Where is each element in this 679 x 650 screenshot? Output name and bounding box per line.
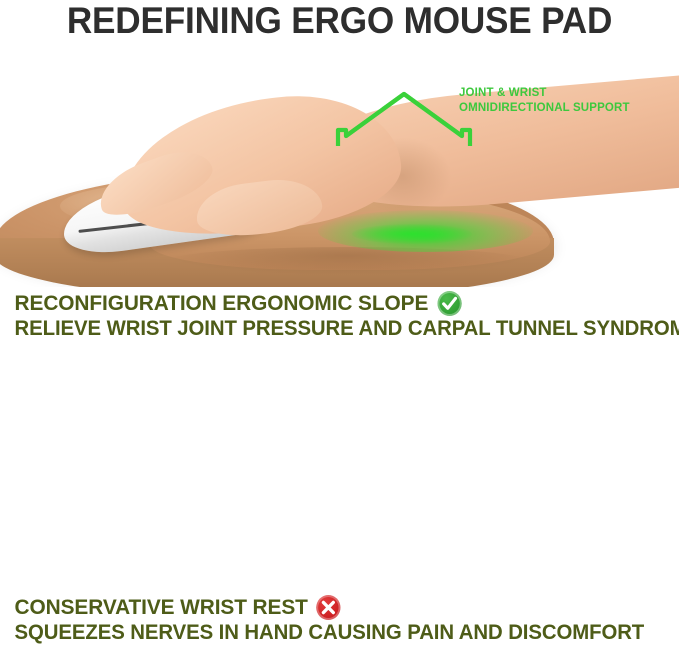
top-product-photo: JOINT & WRIST OMNIDIRECTIONAL SUPPORT <box>0 42 679 287</box>
top-annotation: JOINT & WRIST OMNIDIRECTIONAL SUPPORT <box>459 86 630 115</box>
page-title: REDEFINING ERGO MOUSE PAD <box>17 2 662 41</box>
lower-caption-block: CONSERVATIVE WRIST REST SQUEEZES NERVES … <box>0 594 679 646</box>
product-infographic: REDEFINING ERGO MOUSE PAD JOINT & WRIST … <box>0 0 679 650</box>
lower-caption-line-1-row: CONSERVATIVE WRIST REST <box>0 594 659 620</box>
top-annotation-line-2: OMNIDIRECTIONAL SUPPORT <box>459 101 630 116</box>
upper-caption-line-2: RELIEVE WRIST JOINT PRESSURE AND CARPAL … <box>15 316 679 342</box>
check-circle-icon <box>437 291 461 316</box>
x-circle-icon <box>317 595 341 620</box>
upper-caption-line-1-row: RECONFIGURATION ERGONOMIC SLOPE <box>0 290 659 316</box>
bottom-product-photo: JOINT & WRIST HANG IN THE AIR <box>0 358 679 593</box>
upper-caption-line-2-row: RELIEVE WRIST JOINT PRESSURE AND CARPAL … <box>0 316 659 342</box>
upper-caption-block: RECONFIGURATION ERGONOMIC SLOPE RELIEVE … <box>0 290 679 342</box>
top-annotation-line-1: JOINT & WRIST <box>459 86 630 101</box>
green-support-core-glow <box>352 224 472 244</box>
upper-caption-line-1: RECONFIGURATION ERGONOMIC SLOPE <box>15 290 429 316</box>
lower-caption-line-2-row: SQUEEZES NERVES IN HAND CAUSING PAIN AND… <box>0 620 659 646</box>
section-divider <box>0 352 679 353</box>
lower-caption-line-1: CONSERVATIVE WRIST REST <box>15 594 308 620</box>
lower-caption-line-2: SQUEEZES NERVES IN HAND CAUSING PAIN AND… <box>15 620 645 646</box>
wrist-rest-shadow <box>168 247 528 275</box>
up-arrow-icon <box>330 88 478 146</box>
